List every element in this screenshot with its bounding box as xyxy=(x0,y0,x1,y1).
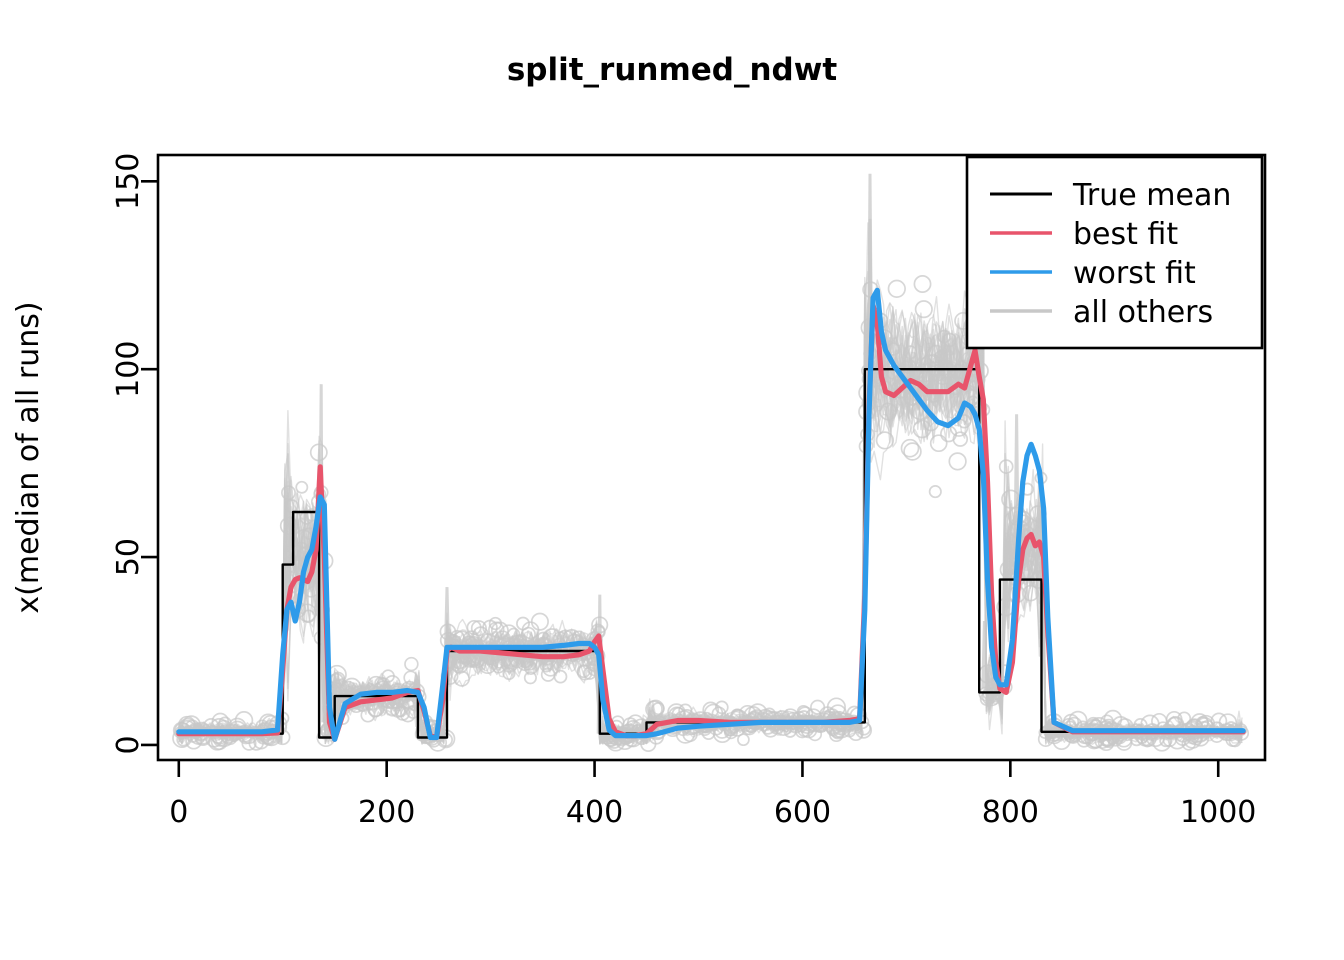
x-tick-label-400: 400 xyxy=(566,795,623,830)
x-tick-label-1000: 1000 xyxy=(1180,795,1256,830)
x-tick-label-0: 0 xyxy=(169,795,188,830)
y-tick-label-50: 50 xyxy=(111,538,146,576)
y-tick-label-150: 150 xyxy=(111,153,146,210)
x-tick-label-800: 800 xyxy=(982,795,1039,830)
chart-canvas: 02004006008001000050100150x(median of al… xyxy=(0,0,1344,960)
y-axis-title: x(median of all runs) xyxy=(11,301,46,613)
legend-label-2: worst fit xyxy=(1073,256,1196,291)
chart-legend: True meanbest fitworst fitall others xyxy=(967,157,1262,348)
legend-label-0: True mean xyxy=(1072,178,1231,213)
y-tick-label-100: 100 xyxy=(111,341,146,398)
x-tick-label-200: 200 xyxy=(358,795,415,830)
y-tick-label-0: 0 xyxy=(111,735,146,754)
x-tick-label-600: 600 xyxy=(774,795,831,830)
chart-page: split_runmed_ndwt 0200400600800100005010… xyxy=(0,0,1344,960)
legend-label-1: best fit xyxy=(1073,217,1178,252)
legend-label-3: all others xyxy=(1073,295,1213,330)
